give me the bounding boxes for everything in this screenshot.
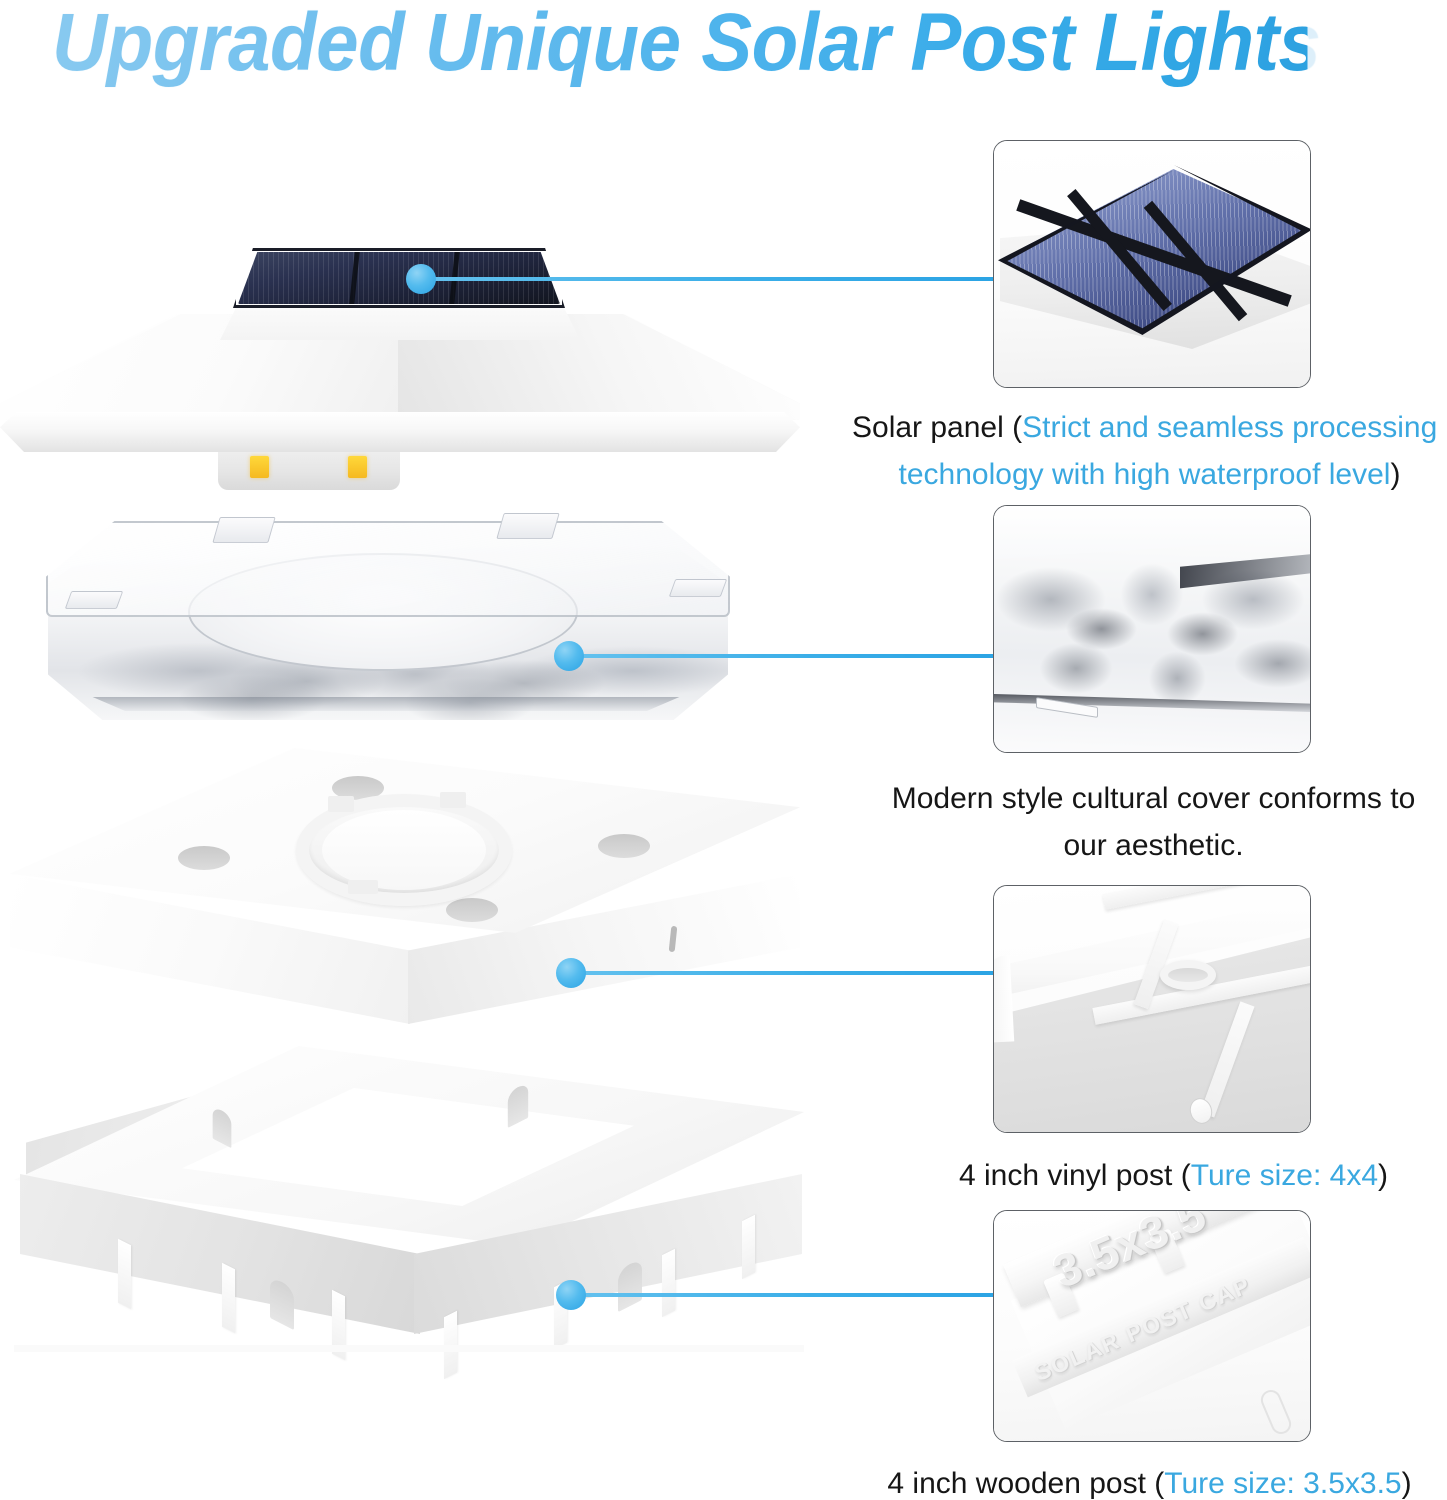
part-cultural-cover: [38, 505, 758, 730]
cover-tab-1: [212, 517, 275, 543]
base-ring-notch-1: [328, 796, 354, 812]
caption-wooden-post: 4 inch wooden post (Ture size: 3.5x3.5): [852, 1460, 1447, 1500]
callout-wooden-post: 3.5x3.5 SOLAR POST CAP: [993, 1210, 1311, 1442]
caption-solar-tail: ): [1390, 458, 1400, 491]
leader-dot-wooden: [556, 1280, 586, 1310]
cover-top-lip: [46, 521, 730, 617]
frame-rib-3: [332, 1290, 345, 1361]
part-adapter-frame: [14, 1046, 804, 1386]
frame-rib-4: [444, 1311, 457, 1380]
caption-vinyl-tail: ): [1378, 1159, 1388, 1192]
base-ring-inner: [322, 810, 486, 890]
caption-vinyl-lead: 4 inch vinyl post (: [959, 1159, 1191, 1192]
base-ring-notch-3: [348, 880, 378, 894]
vinyl-closeup-screw-boss: [1160, 960, 1216, 990]
frame-rib-1: [118, 1239, 131, 1310]
title-bar: Upgraded Unique Solar Post Lights: [0, 0, 1447, 90]
frame-rib-7: [742, 1215, 755, 1280]
base-screw-hole-4: [446, 898, 498, 922]
caption-cover-line-2: our aesthetic.: [1063, 829, 1243, 862]
page-title: Upgraded Unique Solar Post Lights: [52, 0, 1308, 90]
caption-solar-lead: Solar panel (: [852, 411, 1022, 444]
base-screw-hole-3: [178, 846, 230, 870]
base-ring-notch-2: [440, 792, 466, 808]
caption-wooden-highlight: Ture size: 3.5x3.5: [1164, 1467, 1401, 1500]
cover-tab-4: [669, 579, 728, 597]
leader-line-cover: [578, 654, 1002, 658]
caption-wooden-lead: 4 inch wooden post (: [887, 1467, 1164, 1500]
caption-cover-line-1: Modern style cultural cover conforms to: [892, 782, 1416, 815]
cover-tab-3: [65, 591, 124, 609]
callout-solar-panel: [993, 140, 1311, 388]
product-infographic: Upgraded Unique Solar Post Lights: [0, 0, 1447, 1500]
cover-base-edge: [60, 697, 712, 711]
caption-solar-highlight-1: Strict and seamless processing: [1022, 411, 1437, 444]
callout-vinyl-post: [993, 885, 1311, 1133]
frame-rib-2: [222, 1263, 235, 1334]
caption-vinyl-post: 4 inch vinyl post (Ture size: 4x4): [900, 1152, 1447, 1199]
base-screw-hole-2: [598, 834, 650, 858]
leader-line-vinyl: [580, 971, 1002, 975]
caption-cultural-cover: Modern style cultural cover conforms to …: [860, 775, 1447, 869]
leader-line-solar: [430, 277, 1002, 281]
callout-cultural-cover: [993, 505, 1311, 753]
part-base-plate: [10, 748, 800, 1038]
leader-dot-cover: [554, 641, 584, 671]
led-chip-right: [348, 456, 367, 478]
cap-rim: [0, 412, 800, 452]
frame-rib-6: [662, 1249, 675, 1318]
caption-wooden-tail: ): [1402, 1467, 1412, 1500]
caption-solar-highlight-2: technology with high waterproof level: [899, 458, 1391, 491]
led-chip-left: [250, 456, 269, 478]
cover-tab-2: [496, 513, 559, 539]
leader-dot-vinyl: [556, 958, 586, 988]
leader-line-wooden: [580, 1293, 1002, 1297]
caption-vinyl-highlight: Ture size: 4x4: [1191, 1159, 1378, 1192]
leader-dot-solar: [406, 264, 436, 294]
caption-solar-panel: Solar panel (Strict and seamless process…: [852, 404, 1447, 498]
